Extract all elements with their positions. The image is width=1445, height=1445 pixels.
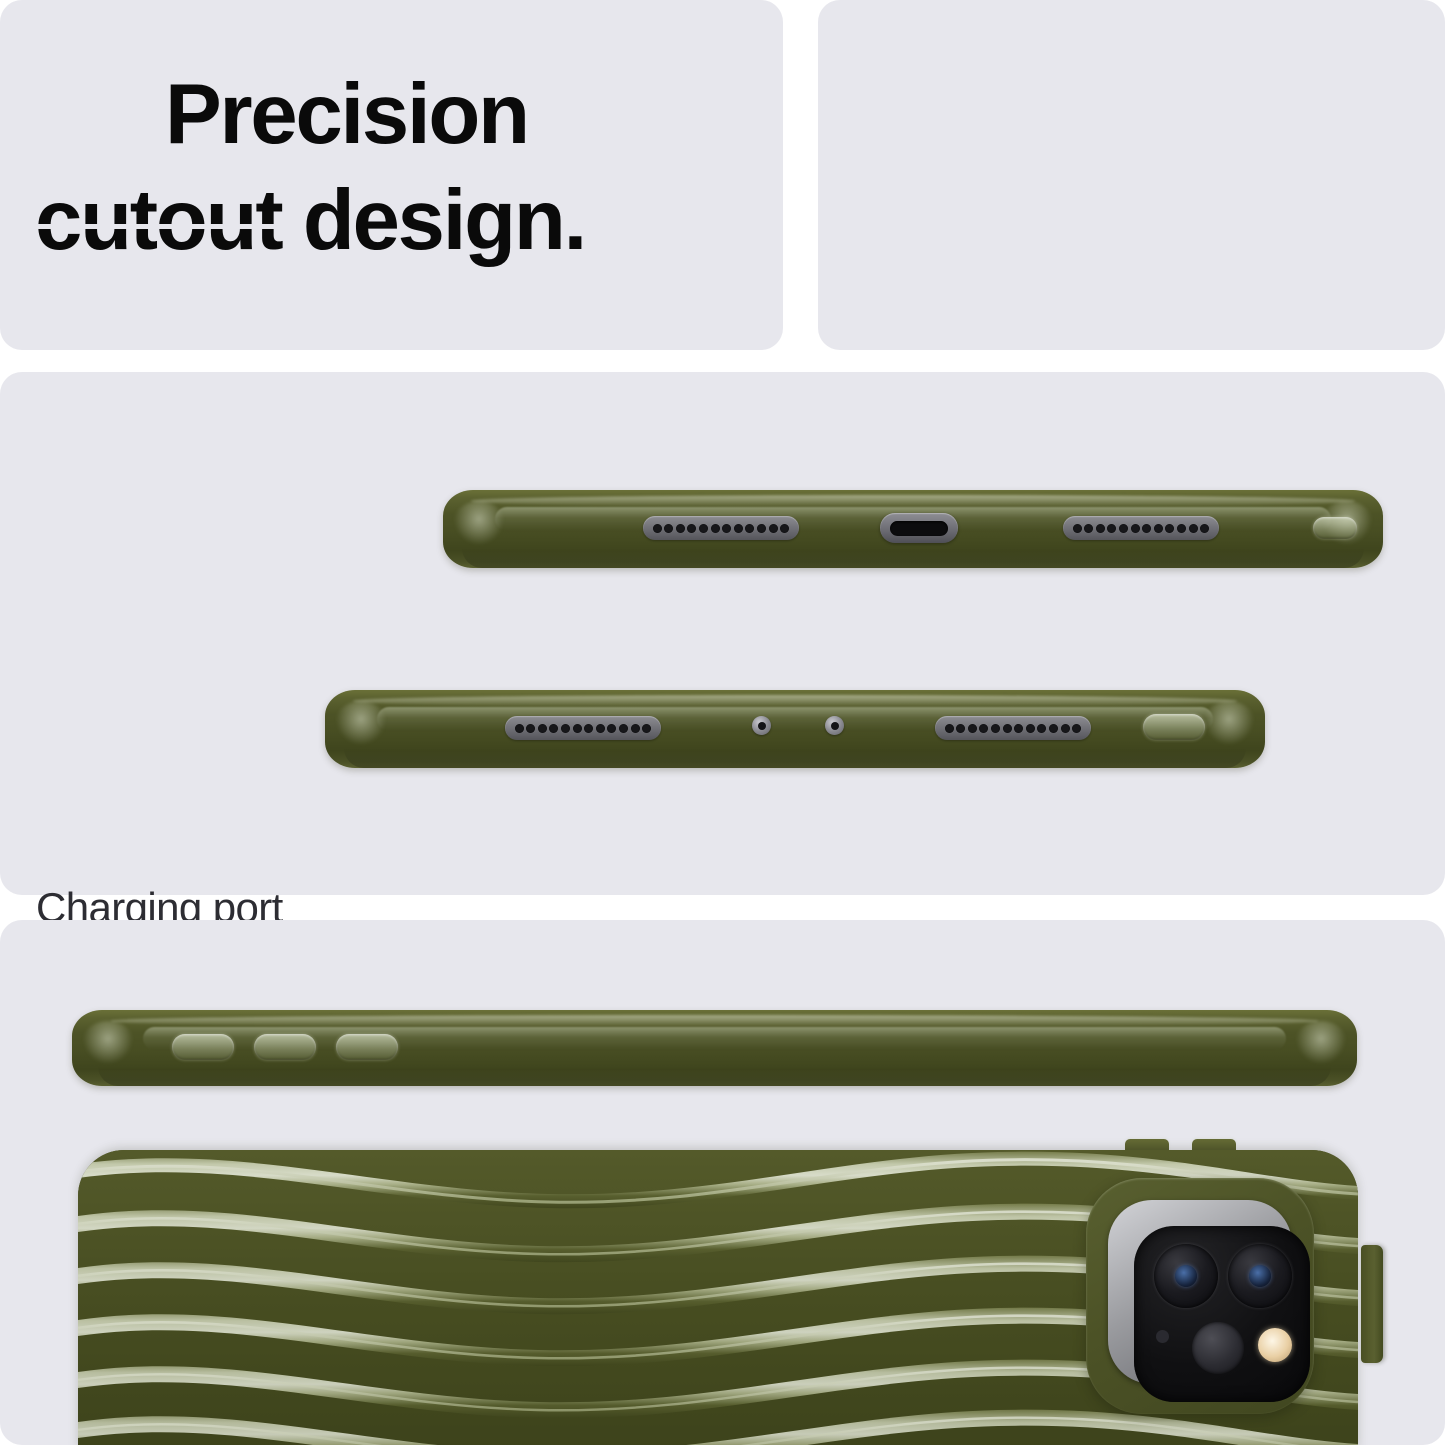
camera-flash-icon: [1258, 1328, 1292, 1362]
corner-highlight-left: [335, 701, 387, 746]
lidar-sensor-icon: [1192, 1322, 1244, 1374]
corner-highlight-right: [1295, 1021, 1347, 1065]
camera-bump-plateau: [1086, 1178, 1314, 1414]
case-bottom-shade: [344, 748, 1246, 768]
headline-cutout-word: cutout: [35, 168, 281, 274]
case-bottom-shade: [98, 1066, 1332, 1086]
cutouts-panel: Charging port Touch ID: [0, 372, 1445, 895]
headline-line-1: Precision: [165, 67, 528, 162]
microphone-hole-icon: [1156, 1330, 1169, 1343]
headline-panel: Precision cutout design.: [0, 0, 783, 350]
product-feature-page: Precision cutout design. Precise cutouts…: [0, 0, 1445, 1445]
microphone-hole-icon: [752, 716, 771, 735]
side-button-tab: [1361, 1245, 1383, 1363]
camera-module-icon: [1108, 1200, 1292, 1384]
corner-highlight-left: [82, 1021, 134, 1065]
speaker-grille-icon: [1063, 516, 1219, 540]
camera-lens-ultrawide-icon: [1228, 1244, 1292, 1308]
page-title: Precision cutout design.: [165, 62, 765, 275]
camera-glass: [1134, 1226, 1310, 1402]
subtitle-panel: Precise cutouts enable easy accessibilit…: [818, 0, 1445, 350]
headline-line-2-suffix: design.: [281, 173, 585, 268]
speaker-grille-icon: [505, 716, 661, 740]
corner-highlight-left: [453, 501, 505, 546]
speaker-grille-icon: [935, 716, 1091, 740]
case-bottom-shade: [462, 548, 1364, 568]
speaker-grille-icon: [643, 516, 799, 540]
device-view-touchid-edge: [325, 690, 1265, 768]
touch-id-button-icon: [1143, 714, 1205, 740]
volume-down-cutout: [336, 1034, 398, 1060]
button-cutout: [172, 1034, 234, 1060]
camera-lens-wide-icon: [1154, 1244, 1218, 1308]
microphone-hole-icon: [825, 716, 844, 735]
headline-line-2: cutout design.: [35, 168, 765, 274]
usbc-port-icon: [880, 513, 958, 543]
device-view-side-buttons: [72, 1010, 1357, 1086]
device-view-hero-back: [78, 1150, 1358, 1445]
case-gloss-sheen: [111, 1015, 1319, 1026]
corner-cutout: [1313, 517, 1357, 539]
device-view-charging-edge: [443, 490, 1383, 568]
corner-highlight-right: [1203, 701, 1255, 746]
volume-up-cutout: [254, 1034, 316, 1060]
